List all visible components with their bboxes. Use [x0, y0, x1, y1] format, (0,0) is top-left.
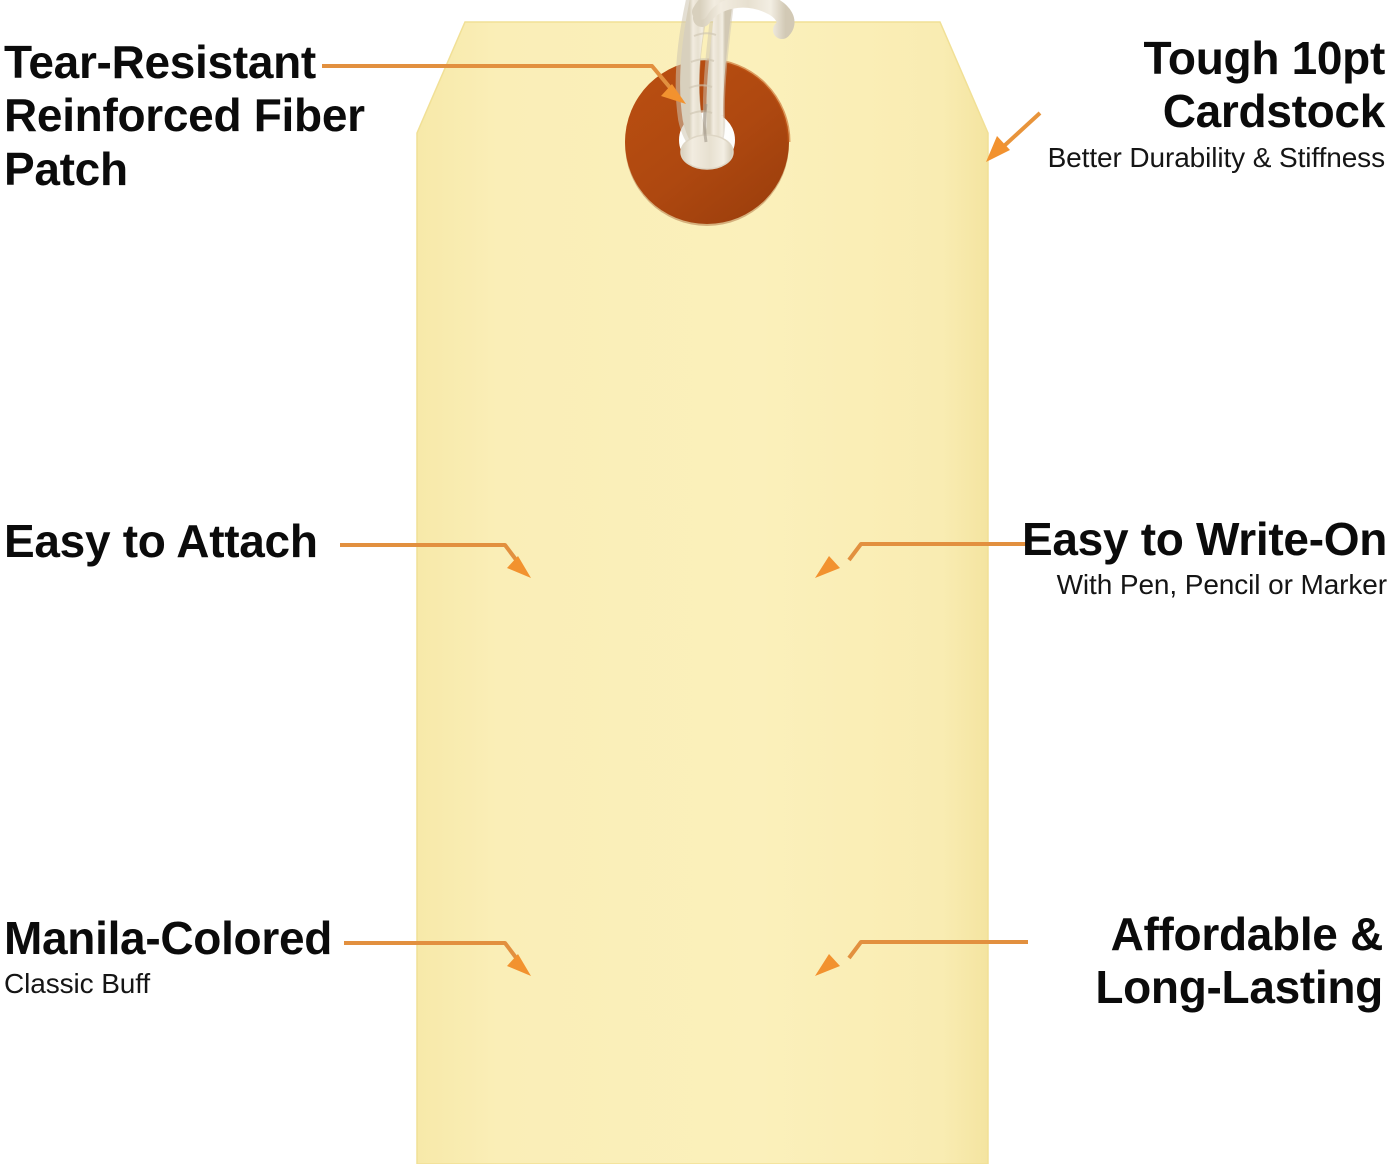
- callout-affordable-long-lasting: Affordable & Long-Lasting: [983, 908, 1383, 1015]
- callout-tough-cardstock: Tough 10pt Cardstock Better Durability &…: [955, 32, 1385, 174]
- callout-easy-to-write-on: Easy to Write-On With Pen, Pencil or Mar…: [967, 513, 1387, 602]
- callout-easy-to-attach: Easy to Attach: [4, 515, 344, 568]
- callout-affordable-long-lasting-headline: Affordable & Long-Lasting: [983, 908, 1383, 1015]
- callout-easy-to-write-on-subline: With Pen, Pencil or Marker: [967, 568, 1387, 602]
- callout-manila-colored-subline: Classic Buff: [4, 967, 364, 1001]
- callout-tear-resistant-headline: Tear-Resistant Reinforced Fiber Patch: [4, 36, 424, 196]
- infographic-canvas: Tear-Resistant Reinforced Fiber Patch To…: [0, 0, 1391, 1164]
- callout-tough-cardstock-headline: Tough 10pt Cardstock: [955, 32, 1385, 139]
- callout-tear-resistant: Tear-Resistant Reinforced Fiber Patch: [4, 36, 424, 196]
- callout-tough-cardstock-subline: Better Durability & Stiffness: [955, 141, 1385, 175]
- callout-easy-to-write-on-headline: Easy to Write-On: [967, 513, 1387, 566]
- callout-easy-to-attach-headline: Easy to Attach: [4, 515, 344, 568]
- callout-manila-colored-headline: Manila-Colored: [4, 912, 364, 965]
- callout-manila-colored: Manila-Colored Classic Buff: [4, 912, 364, 1001]
